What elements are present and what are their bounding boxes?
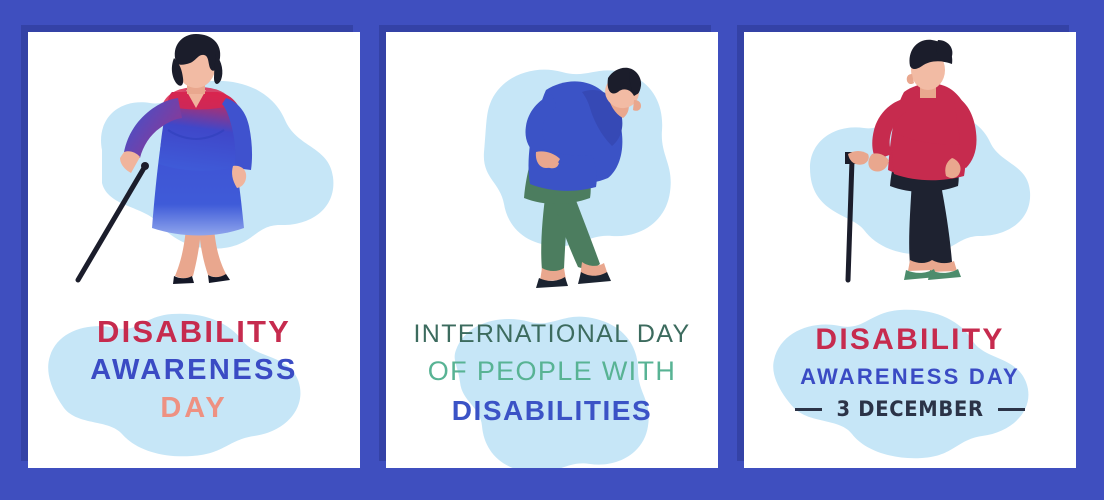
caption-line-1: DISABILITY [815, 322, 1004, 357]
caption-line-1: DISABILITY [97, 314, 291, 350]
date-row: 3 DECEMBER [795, 397, 1025, 422]
poster-card-disability-awareness-day-3-december[interactable]: DISABILITY AWARENESS DAY 3 DECEMBER [744, 32, 1076, 468]
shoes [904, 260, 961, 280]
dash-right-icon [998, 408, 1025, 411]
poster-set: DISABILITY AWARENESS DAY [0, 0, 1104, 500]
caption-lines: DISABILITY AWARENESS DAY [28, 304, 360, 468]
caption-line-1: INTERNATIONAL DAY [413, 320, 690, 349]
caption-block: DISABILITY AWARENESS DAY 3 DECEMBER [744, 304, 1076, 468]
caption-line-2: AWARENESS [90, 354, 298, 388]
caption-block: DISABILITY AWARENESS DAY [28, 304, 360, 468]
illustration-woman-with-cane-blue-dress [28, 32, 360, 304]
caption-block: INTERNATIONAL DAY OF PEOPLE WITH DISABIL… [386, 304, 718, 468]
poster-card-international-day-of-people-with-disabilities[interactable]: INTERNATIONAL DAY OF PEOPLE WITH DISABIL… [386, 32, 718, 468]
caption-line-3: DISABILITIES [452, 395, 653, 428]
caption-lines: DISABILITY AWARENESS DAY 3 DECEMBER [744, 304, 1076, 468]
caption-line-2: AWARENESS DAY [800, 364, 1020, 390]
caption-line-3: DAY [160, 392, 227, 426]
dash-left-icon [795, 408, 822, 411]
caption-lines: INTERNATIONAL DAY OF PEOPLE WITH DISABIL… [386, 304, 718, 468]
poster-card-disability-awareness-day[interactable]: DISABILITY AWARENESS DAY [28, 32, 360, 468]
illustration-man-with-back-pain-blue-sweater [386, 32, 718, 304]
illustration-woman-with-cane-red-top [744, 32, 1076, 304]
caption-line-3: 3 DECEMBER [836, 397, 983, 422]
caption-line-2: OF PEOPLE WITH [428, 356, 676, 388]
